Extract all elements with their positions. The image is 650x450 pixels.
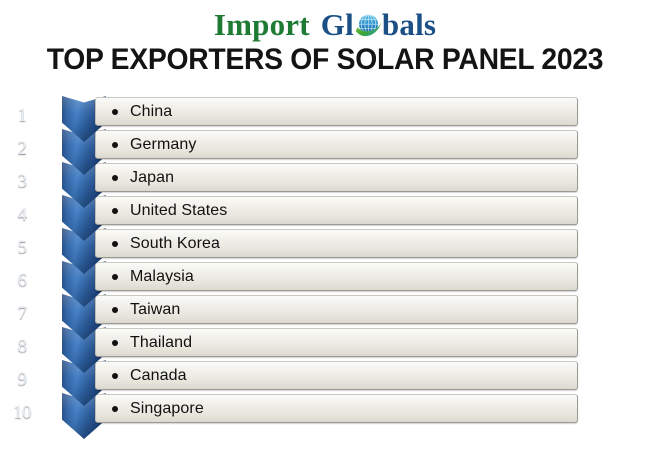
list-item-label: Canada <box>130 368 187 384</box>
list-item-label: Germany <box>130 137 197 153</box>
list-item[interactable]: 3Japan <box>0 162 650 195</box>
brand-logo-text: Import Gl <box>214 9 436 40</box>
bullet-icon <box>112 274 118 280</box>
list-item[interactable]: 8Thailand <box>0 327 650 360</box>
bullet-icon <box>112 340 118 346</box>
rank-number: 4 <box>0 204 44 226</box>
rank-number: 6 <box>0 270 44 292</box>
brand-name-globals-suffix: bals <box>382 9 436 40</box>
bullet-icon <box>112 373 118 379</box>
brand-name-globals-prefix: Gl <box>321 9 354 40</box>
rank-number: 8 <box>0 336 44 358</box>
list-item-label: Malaysia <box>130 269 194 285</box>
list-item[interactable]: 7Taiwan <box>0 294 650 327</box>
rank-number: 3 <box>0 171 44 193</box>
list-item-label: United States <box>130 203 227 219</box>
list-item-bar[interactable]: Singapore <box>95 394 578 423</box>
list-item[interactable]: 2Germany <box>0 129 650 162</box>
list-item-bar[interactable]: Malaysia <box>95 262 578 291</box>
list-item-bar[interactable]: South Korea <box>95 229 578 258</box>
brand-name-import: Import <box>214 9 310 40</box>
list-item-label: Thailand <box>130 335 192 351</box>
list-item-bar[interactable]: Thailand <box>95 328 578 357</box>
bullet-icon <box>112 109 118 115</box>
list-item-bar[interactable]: United States <box>95 196 578 225</box>
bullet-icon <box>112 406 118 412</box>
rank-number: 5 <box>0 237 44 259</box>
brand-logo: Import Gl <box>0 4 650 44</box>
list-item[interactable]: 1China <box>0 96 650 129</box>
rank-number: 9 <box>0 369 44 391</box>
list-item-bar[interactable]: Japan <box>95 163 578 192</box>
list-item-bar[interactable]: China <box>95 97 578 126</box>
list-item-label: Japan <box>130 170 174 186</box>
list-item-label: South Korea <box>130 236 220 252</box>
list-item-bar[interactable]: Canada <box>95 361 578 390</box>
bullet-icon <box>112 241 118 247</box>
bullet-icon <box>112 208 118 214</box>
rank-number: 2 <box>0 138 44 160</box>
list-item-bar[interactable]: Germany <box>95 130 578 159</box>
rank-number: 10 <box>0 402 44 424</box>
bullet-icon <box>112 175 118 181</box>
list-item[interactable]: 4United States <box>0 195 650 228</box>
list-item[interactable]: 5South Korea <box>0 228 650 261</box>
rank-number: 1 <box>0 105 44 127</box>
list-item-label: China <box>130 104 172 120</box>
list-item-bar[interactable]: Taiwan <box>95 295 578 324</box>
ranked-list: 1China2Germany3Japan4United States5South… <box>0 96 650 441</box>
list-item[interactable]: 6Malaysia <box>0 261 650 294</box>
list-item-label: Singapore <box>130 401 204 417</box>
page-title: TOP EXPORTERS OF SOLAR PANEL 2023 <box>13 43 637 77</box>
list-item[interactable]: 10Singapore <box>0 393 650 426</box>
globe-icon <box>354 11 383 40</box>
bullet-icon <box>112 307 118 313</box>
list-item[interactable]: 9Canada <box>0 360 650 393</box>
rank-number: 7 <box>0 303 44 325</box>
bullet-icon <box>112 142 118 148</box>
list-item-label: Taiwan <box>130 302 180 318</box>
